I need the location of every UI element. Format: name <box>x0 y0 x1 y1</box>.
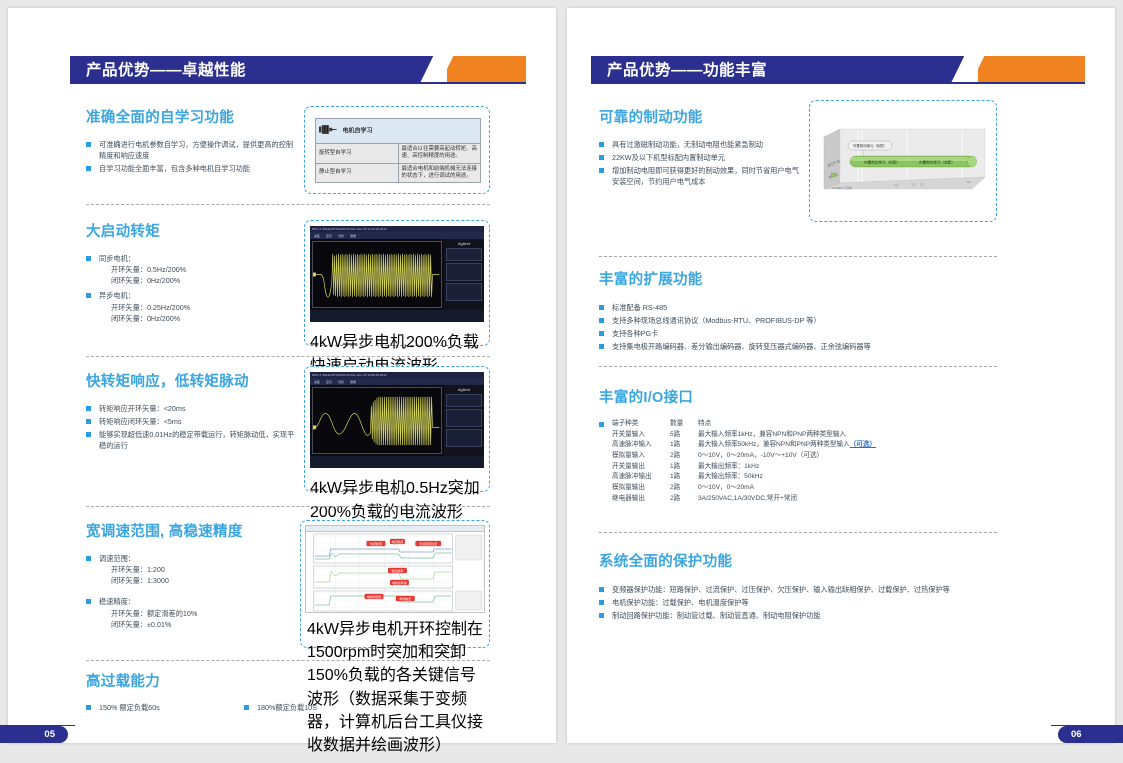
scope-body: Agilent <box>310 385 484 456</box>
annotation-label: 输出频率 <box>392 568 404 573</box>
list-item: 自学习功能全面丰富，包含多种电机自学习功能 <box>86 163 296 174</box>
list-item: 异步电机： 开环矢量：0.25Hz/200% 闭环矢量：0Hz/200% <box>86 290 296 323</box>
annotation-label: 电压幅值 <box>392 539 404 544</box>
io-type: 继电器输出 <box>612 494 670 505</box>
spec-group-label: 稳速精度： <box>99 597 135 606</box>
scope-channel-readout <box>441 456 485 468</box>
oscilloscope-screenshot-1: DSO-X 3014A MY54100742 Mon Dec 15 12:13:… <box>310 226 484 322</box>
section-title: 宽调速范围, 高稳速精度 <box>86 520 296 541</box>
list-item: 转矩响应闭环矢量：<5ms <box>86 416 298 427</box>
table-row: 旋转型自学习 最适合以往需要高起动转矩、高速、高控制精度的用途。 <box>316 144 481 164</box>
list-item: 同步电机： 开环矢量：0.5Hz/200% 闭环矢量：0Hz/200% <box>86 253 296 286</box>
list-item: 22KW及以下机型标配内置制动单元 <box>599 152 799 163</box>
axis-tick: 5.5KW以下功率 <box>832 186 852 190</box>
left-page-header-band: 产品优势——卓越性能 <box>70 56 526 82</box>
table-row: 模拟量输入 2路 0～10V，0～20mA，-10V～+10V（可选） <box>612 451 882 462</box>
io-qty: 1路 <box>670 472 698 483</box>
row-value: 最适合以往需要高起动转矩、高速、高控制精度的用途。 <box>398 144 481 164</box>
right-page-header-band: 产品优势——功能丰富 <box>591 56 1085 82</box>
section-overload: 高过载能力 150% 额定负载60s 180%额定负载10S <box>86 670 490 715</box>
section-title: 可靠的制动功能 <box>599 106 799 127</box>
bullet-marker <box>599 422 604 427</box>
spec-item: 闭环矢量：±0.01% <box>99 619 296 630</box>
table-row: 开关量输出 1路 最大输出频率：1kHz <box>612 462 882 473</box>
io-qty: 2路 <box>670 483 698 494</box>
list-item: 标准配备 RS-485 <box>599 302 929 313</box>
annotation-label: 电流幅值 <box>370 541 382 546</box>
header-underline <box>70 82 526 84</box>
table-row: 高速脉冲输入 1路 最大输入频率50kHz，兼容NPN和PNP两种类型输入（可选… <box>612 440 882 451</box>
io-type: 高速脉冲输入 <box>612 440 670 451</box>
spec-item: 开环矢量：0.5Hz/200% <box>99 264 296 275</box>
scope-menu-item[interactable]: 测量 <box>350 380 356 384</box>
column-header: 数量 <box>670 419 698 430</box>
list-item: 能够实现超低速0.01Hz的稳定带载运行，转矩脉动低，实现平稳的运行 <box>86 429 298 451</box>
section-bullet-list: 转矩响应开环矢量：<20ms 转矩响应闭环矢量：<5ms 能够实现超低速0.01… <box>86 403 298 452</box>
divider <box>599 256 997 257</box>
scope-waveform <box>313 388 441 453</box>
io-type: 开关量输出 <box>612 462 670 473</box>
left-page: 产品优势——卓越性能 准确全面的自学习功能 可准确进行电机参数自学习，方便操作调… <box>8 8 556 743</box>
scope-channel-readout <box>354 310 398 322</box>
spec-group-label: 异步电机： <box>99 291 135 300</box>
section-title: 系统全面的保护功能 <box>599 550 1019 571</box>
section-title: 大启动转矩 <box>86 220 296 241</box>
table-row: 电机自学习 <box>316 119 481 144</box>
list-item: 增加制动电阻即可获得更好的制动效果，同时节省用户电气安装空间，节约用户电气成本 <box>599 165 799 187</box>
io-qty: 5路 <box>670 430 698 441</box>
scope-body: Agilent <box>310 239 484 310</box>
row-value: 最适合电机和前端机械无法连接的状态下，进行调试的用途。 <box>398 163 481 183</box>
list-item: 180%额定负载10S <box>244 702 317 713</box>
list-item: 支持多种现场总线通讯协议（Modbus-RTU、PROFIBUS-DP 等） <box>599 315 929 326</box>
spec-group-label: 同步电机： <box>99 254 135 263</box>
table-header-cell: 电机自学习 <box>316 119 481 144</box>
section-brake: 可靠的制动功能 具有过激磁制动功能，无制动电阻也能紧急制动 22KW及以下机型标… <box>599 106 799 190</box>
table-row: 静止型自学习 最适合电机和前端机械无法连接的状态下，进行调试的用途。 <box>316 163 481 183</box>
io-note: 最大输入频率50kHz，兼容NPN和PNP两种类型输入（可选） <box>698 440 882 451</box>
scope-bottom-bar <box>310 310 484 322</box>
spec-item: 开环矢量：额定滑差的10% <box>99 608 296 619</box>
io-type: 开关量输入 <box>612 430 670 441</box>
section-title: 丰富的I/O接口 <box>599 386 999 407</box>
scope-side-panel: Agilent <box>444 239 484 310</box>
header-orange-block <box>447 56 526 82</box>
scope-waveform-grid <box>312 387 442 454</box>
page-title: 产品优势——功能丰富 <box>607 58 767 80</box>
list-item: 具有过激磁制动功能，无制动电阻也能紧急制动 <box>599 139 799 150</box>
page-title: 产品优势——卓越性能 <box>86 58 246 80</box>
axis-tick: 22 <box>920 183 924 187</box>
scope-waveform <box>313 242 441 307</box>
scope-menu-item[interactable]: 光标 <box>338 234 344 238</box>
scope-menu-item[interactable]: 显示 <box>326 234 332 238</box>
section-self-learning: 准确全面的自学习功能 可准确进行电机参数自学习，方便操作调试，提供更高的控制精度… <box>86 106 296 176</box>
io-note: 最大输出频率：50kHz <box>698 472 882 483</box>
io-qty: 2路 <box>670 494 698 505</box>
io-note-mark: （可选） <box>850 441 876 448</box>
divider <box>599 532 997 533</box>
scope-waveform-grid <box>312 241 442 308</box>
header-blue-block: 产品优势——卓越性能 <box>70 56 416 82</box>
scope-menu-item[interactable]: 显示 <box>326 380 332 384</box>
section-expansion: 丰富的扩展功能 标准配备 RS-485 支持多种现场总线通讯协议（Modbus-… <box>599 268 929 355</box>
brake-chart: 其它产品 本产品 5.5KW以下功率 7.5 11 22 90 内置制动单元（标… <box>822 127 986 195</box>
page-number-right: 06 <box>1058 726 1123 743</box>
brake-figure-frame: 其它产品 本产品 5.5KW以下功率 7.5 11 22 90 内置制动单元（标… <box>809 100 997 222</box>
motor-self-learning-table: 电机自学习 旋转型自学习 最适合以往需要高起动转矩、高速、高控制精度的用途。 静… <box>315 118 481 183</box>
io-note: 0～10V，0～20mA，-10V～+10V（可选） <box>698 451 882 462</box>
section-title: 准确全面的自学习功能 <box>86 106 296 127</box>
io-note: 最大输入频率1kHz，兼容NPN和PNP两种类型输入 <box>698 430 882 441</box>
io-type: 模拟量输入 <box>612 451 670 462</box>
callout-label: 内置制动单元（标配） <box>853 143 887 148</box>
section-bullet-list: 标准配备 RS-485 支持多种现场总线通讯协议（Modbus-RTU、PROF… <box>599 302 929 353</box>
self-learning-figure-frame: 电机自学习 旋转型自学习 最适合以往需要高起动转矩、高速、高控制精度的用途。 静… <box>304 106 490 194</box>
list-item: 变频器保护功能：短路保护、过流保护、过压保护、欠压保护、输入输出缺相保护、过载保… <box>599 584 1019 595</box>
annotation-label: 母线电压 <box>399 596 411 601</box>
io-qty: 1路 <box>670 462 698 473</box>
scope-menu-item[interactable]: 采集 <box>314 380 320 384</box>
scope-menubar: 采集 显示 光标 测量 <box>310 232 484 239</box>
section-bullet-list: 可准确进行电机参数自学习，方便操作调试，提供更高的控制精度和响应速度 自学习功能… <box>86 139 296 174</box>
scope-setting-box[interactable] <box>446 263 482 281</box>
scope-channel-readout <box>310 310 354 322</box>
list-item: 支持各种PG卡 <box>599 328 929 339</box>
section-bullet-list: 调速范围： 开环矢量：1:200 闭环矢量：1:3000 稳速精度： 开环矢量：… <box>86 553 296 630</box>
scope-figure-frame-2: DSO-X 3014A MY54100742 Mon Dec 15 10:58:… <box>304 366 490 492</box>
scope-setting-box[interactable] <box>446 283 482 301</box>
row-label: 旋转型自学习 <box>316 144 399 164</box>
list-item: 电机保护功能：过载保护、电机温度保护等 <box>599 597 1019 608</box>
section-bullet-list: 具有过激磁制动功能，无制动电阻也能紧急制动 22KW及以下机型标配内置制动单元 … <box>599 139 799 188</box>
section-io: 丰富的I/O接口 端子种类 数量 特点 开关量输入 5路 最大输入频率1kHz，… <box>599 386 999 504</box>
spec-item: 闭环矢量：0Hz/200% <box>99 275 296 286</box>
scope-channel-readout <box>441 310 485 322</box>
section-title: 快转矩响应，低转矩脉动 <box>86 370 298 391</box>
scope-channel-readout <box>354 456 398 468</box>
scope-brand-label: Agilent <box>446 387 482 392</box>
divider <box>86 204 490 205</box>
divider <box>599 366 997 367</box>
axis-tick: 90 <box>967 180 971 184</box>
axis-tick: 7.5 <box>894 184 899 188</box>
header-orange-block <box>978 56 1085 82</box>
section-bullet-list: 150% 额定负载60s 180%额定负载10S <box>86 702 490 715</box>
scope-menubar: 采集 显示 光标 测量 <box>310 378 484 385</box>
table-header-label: 电机自学习 <box>343 128 373 134</box>
spec-item: 闭环矢量：1:3000 <box>99 575 296 586</box>
header-blue-block: 产品优势——功能丰富 <box>591 56 947 82</box>
list-item: 稳速精度： 开环矢量：额定滑差的10% 闭环矢量：±0.01% <box>86 596 296 629</box>
list-item: 转矩响应开环矢量：<20ms <box>86 403 298 414</box>
io-bullet-wrap: 端子种类 数量 特点 开关量输入 5路 最大输入频率1kHz，兼容NPN和PNP… <box>599 419 999 504</box>
io-qty: 2路 <box>670 451 698 462</box>
section-start-torque: 大启动转矩 同步电机： 开环矢量：0.5Hz/200% 闭环矢量：0Hz/200… <box>86 220 296 326</box>
divider <box>86 356 490 357</box>
divider <box>86 506 490 507</box>
io-type: 高速脉冲输出 <box>612 472 670 483</box>
section-torque-response: 快转矩响应，低转矩脉动 转矩响应开环矢量：<20ms 转矩响应闭环矢量：<5ms… <box>86 370 298 454</box>
section-bullet-list: 变频器保护功能：短路保护、过流保护、过压保护、欠压保护、输入输出缺相保护、过载保… <box>599 584 1019 621</box>
scope-side-panel: Agilent <box>444 385 484 456</box>
table-header-row: 端子种类 数量 特点 <box>612 419 882 430</box>
bar-label: 内置制动单元（标配） <box>864 159 900 164</box>
table-row: 开关量输入 5路 最大输入频率1kHz，兼容NPN和PNP两种类型输入 <box>612 430 882 441</box>
scope-brand-label: Agilent <box>446 241 482 246</box>
scope-setting-box[interactable] <box>446 429 482 447</box>
scope-figure-frame-1: DSO-X 3014A MY54100742 Mon Dec 15 12:13:… <box>304 220 490 346</box>
annotation-label: 电机的转速 <box>392 580 407 585</box>
table-row: 模拟量输出 2路 0～10V，0～20mA <box>612 483 882 494</box>
annotation-label: 负载突变位置 <box>419 541 437 546</box>
scope-channel-readout <box>397 310 441 322</box>
section-title: 高过载能力 <box>86 670 490 691</box>
scope-menu-item[interactable]: 采集 <box>314 234 320 238</box>
divider <box>86 660 490 661</box>
list-item: 调速范围： 开环矢量：1:200 闭环矢量：1:3000 <box>86 553 296 586</box>
bar-label: 内置制动单元（选配） <box>919 159 955 164</box>
column-header: 端子种类 <box>612 419 670 430</box>
page-number-left: 05 <box>0 726 68 743</box>
spec-item: 闭环矢量：0Hz/200% <box>99 313 296 324</box>
brochure-spread: 产品优势——卓越性能 准确全面的自学习功能 可准确进行电机参数自学习，方便操作调… <box>0 0 1123 763</box>
io-note: 最大输出频率：1kHz <box>698 462 882 473</box>
list-item: 制动回路保护功能：制动管过载、制动管直通、制动电阻保护功能 <box>599 610 1019 621</box>
io-note: 0～10V，0～20mA <box>698 483 882 494</box>
io-qty: 1路 <box>670 440 698 451</box>
figure-caption: 4kW异步电机0.5Hz突加200%负载的电流波形 <box>310 474 484 522</box>
annotation-label: 电机的扭矩 <box>367 594 382 599</box>
header-underline <box>591 82 1085 84</box>
trace-plots: 电流幅值 电压幅值 负载突变位置 输出频率 电机的转速 电机的扭矩 母线电压 <box>306 532 484 613</box>
scope-menu-item[interactable]: 光标 <box>338 380 344 384</box>
trace-figure-frame: 电流幅值 电压幅值 负载突变位置 输出频率 电机的转速 电机的扭矩 母线电压 4… <box>300 520 490 648</box>
scope-menu-item[interactable]: 测量 <box>350 234 356 238</box>
spec-item: 开环矢量：1:200 <box>99 564 296 575</box>
spec-group-label: 调速范围： <box>99 554 135 563</box>
scope-bottom-bar <box>310 456 484 468</box>
list-item: 150% 额定负载60s <box>86 702 244 713</box>
section-speed-range: 宽调速范围, 高稳速精度 调速范围： 开环矢量：1:200 闭环矢量：1:300… <box>86 520 296 632</box>
motor-icon <box>319 125 337 137</box>
scope-setting-box[interactable] <box>446 248 482 261</box>
brake-chart-svg: 其它产品 本产品 5.5KW以下功率 7.5 11 22 90 内置制动单元（标… <box>822 127 986 195</box>
table-row: 高速脉冲输出 1路 最大输出频率：50kHz <box>612 472 882 483</box>
io-note: 3A/250VAC,1A/30VDC,常开+常闭 <box>698 494 882 505</box>
row-label: 静止型自学习 <box>316 163 399 183</box>
axis-tick: 11 <box>912 183 916 187</box>
scope-setting-box[interactable] <box>446 394 482 407</box>
oscilloscope-screenshot-2: DSO-X 3014A MY54100742 Mon Dec 15 10:58:… <box>310 372 484 468</box>
right-page: 产品优势——功能丰富 可靠的制动功能 具有过激磁制动功能，无制动电阻也能紧急制动… <box>567 8 1115 743</box>
io-table: 端子种类 数量 特点 开关量输入 5路 最大输入频率1kHz，兼容NPN和PNP… <box>612 419 882 504</box>
list-item: 支持集电极开路编码器、差分输出编码器、旋转变压器式编码器、正余弦编码器等 <box>599 341 929 352</box>
io-note-text: 最大输入频率50kHz，兼容NPN和PNP两种类型输入 <box>698 441 850 448</box>
column-header: 特点 <box>698 419 882 430</box>
scope-channel-readout <box>310 456 354 468</box>
list-item: 可准确进行电机参数自学习，方便操作调试，提供更高的控制精度和响应速度 <box>86 139 296 161</box>
io-type: 模拟量输出 <box>612 483 670 494</box>
table-row: 继电器输出 2路 3A/250VAC,1A/30VDC,常开+常闭 <box>612 494 882 505</box>
section-protection: 系统全面的保护功能 变频器保护功能：短路保护、过流保护、过压保护、欠压保护、输入… <box>599 550 1019 623</box>
signal-trace-chart: 电流幅值 电压幅值 负载突变位置 输出频率 电机的转速 电机的扭矩 母线电压 <box>305 525 485 613</box>
section-bullet-list: 同步电机： 开环矢量：0.5Hz/200% 闭环矢量：0Hz/200% 异步电机… <box>86 253 296 324</box>
section-title: 丰富的扩展功能 <box>599 268 929 289</box>
spec-item: 开环矢量：0.25Hz/200% <box>99 302 296 313</box>
scope-setting-box[interactable] <box>446 409 482 427</box>
scope-channel-readout <box>397 456 441 468</box>
